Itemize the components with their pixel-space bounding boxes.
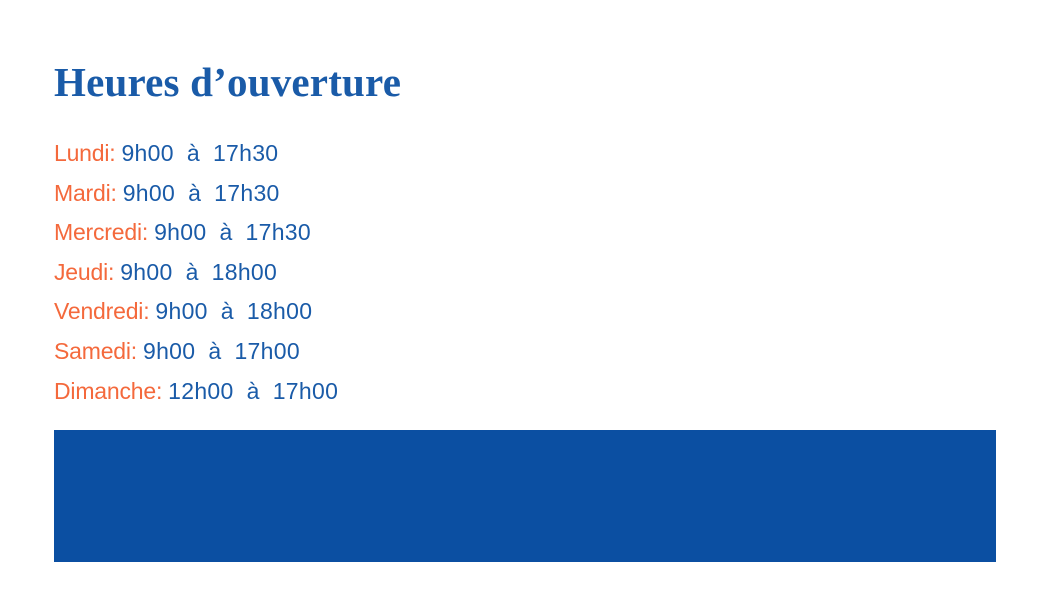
day-label: Jeudi:: [54, 259, 114, 285]
list-item: Lundi:9h00à17h30: [54, 134, 654, 174]
day-label: Samedi:: [54, 338, 137, 364]
time-separator: à: [180, 134, 207, 174]
open-time: 9h00: [154, 219, 206, 245]
blue-banner-block: [54, 430, 996, 562]
time-separator: à: [181, 174, 208, 214]
time-separator: à: [214, 292, 241, 332]
open-time: 12h00: [168, 378, 233, 404]
page-title: Heures d’ouverture: [54, 60, 401, 104]
day-label: Mercredi:: [54, 219, 148, 245]
open-time: 9h00: [155, 298, 207, 324]
close-time: 17h30: [214, 180, 279, 206]
list-item: Samedi:9h00à17h00: [54, 332, 654, 372]
time-separator: à: [179, 253, 206, 293]
time-separator: à: [201, 332, 228, 372]
close-time: 17h00: [273, 378, 338, 404]
list-item: Vendredi:9h00à18h00: [54, 292, 654, 332]
open-time: 9h00: [121, 140, 173, 166]
open-time: 9h00: [120, 259, 172, 285]
close-time: 18h00: [247, 298, 312, 324]
day-label: Mardi:: [54, 180, 117, 206]
slide-canvas: Heures d’ouverture Lundi:9h00à17h30 Mard…: [0, 0, 1050, 600]
time-separator: à: [212, 213, 239, 253]
day-label: Dimanche:: [54, 378, 162, 404]
open-time: 9h00: [123, 180, 175, 206]
list-item: Mercredi:9h00à17h30: [54, 213, 654, 253]
open-time: 9h00: [143, 338, 195, 364]
list-item: Jeudi:9h00à18h00: [54, 253, 654, 293]
close-time: 17h30: [246, 219, 311, 245]
close-time: 17h00: [234, 338, 299, 364]
list-item: Dimanche:12h00à17h00: [54, 372, 654, 412]
opening-hours-list: Lundi:9h00à17h30 Mardi:9h00à17h30 Mercre…: [54, 134, 654, 411]
close-time: 17h30: [213, 140, 278, 166]
day-label: Lundi:: [54, 140, 115, 166]
list-item: Mardi:9h00à17h30: [54, 174, 654, 214]
day-label: Vendredi:: [54, 298, 149, 324]
time-separator: à: [240, 372, 267, 412]
close-time: 18h00: [212, 259, 277, 285]
